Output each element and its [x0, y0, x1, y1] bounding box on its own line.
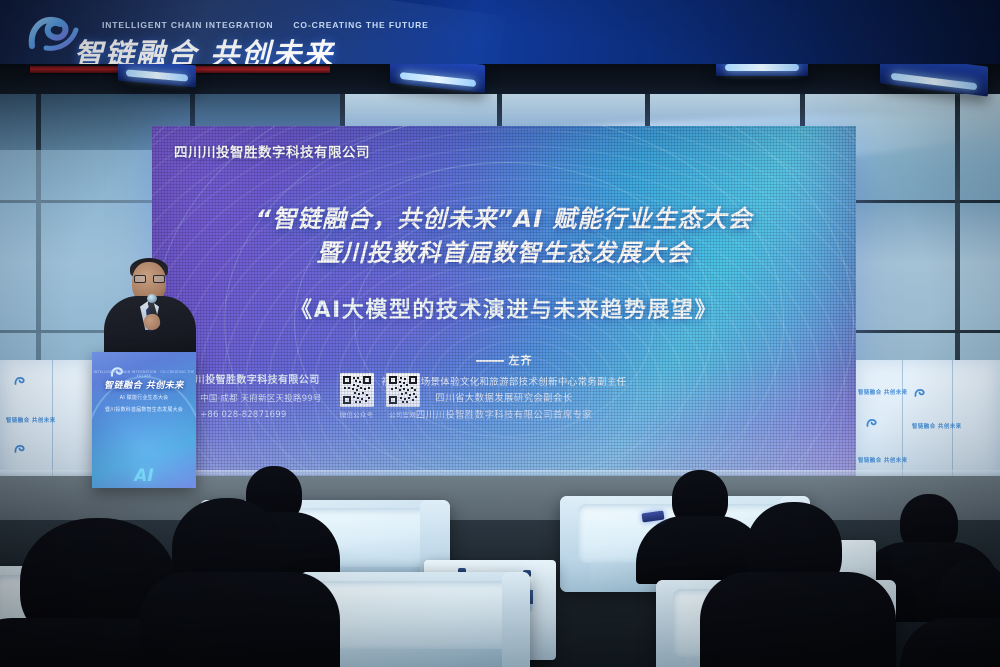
audience-shoulders-foreground — [140, 572, 340, 667]
podium-subtitle-2: 暨川投数科首届数智生态发展大会 — [96, 406, 192, 415]
screen-lower-glow — [152, 366, 856, 476]
podium-ai-accent: AI — [92, 466, 196, 486]
screen-topic-title: 《AI大模型的技术演进与未来趋势展望》 — [152, 292, 856, 324]
event-header-banner: INTELLIGENT CHAIN INTEGRATIONCO-CREATING… — [0, 0, 1000, 64]
banner-english-tagline: INTELLIGENT CHAIN INTEGRATIONCO-CREATING… — [102, 4, 429, 30]
screen-title-line1: “智链融合，共创未来”AI 赋能行业生态大会 — [152, 202, 856, 236]
podium-subtitle-1: AI 赋能行业生态大会 — [96, 394, 192, 403]
microphone-head-icon — [147, 294, 157, 303]
panel-watermark: 智链融合 共创未来 — [858, 456, 908, 464]
conference-photo-scene: INTELLIGENT CHAIN INTEGRATIONCO-CREATING… — [0, 0, 1000, 667]
panel-watermark: 智链融合 共创未来 — [912, 422, 962, 430]
chain-swirl-logo-icon — [14, 444, 27, 454]
audience-shoulders-foreground — [700, 572, 896, 667]
banner-text-rows: INTELLIGENT CHAIN INTEGRATIONCO-CREATING… — [28, 4, 429, 64]
screen-title-line2: 暨川投数科首届数智生态发展大会 — [152, 236, 856, 270]
glasses-icon — [134, 275, 165, 283]
panel-watermark: 智链融合 共创未来 — [858, 388, 908, 396]
name-dash-rule — [476, 360, 504, 362]
screen-title-block: “智链融合，共创未来”AI 赋能行业生态大会 暨川投数科首届数智生态发展大会 《… — [152, 202, 856, 324]
chain-swirl-logo-icon — [866, 418, 879, 428]
wall-panel-right: 智链融合 共创未来 智链融合 共创未来 智链融合 共创未来 — [856, 360, 1000, 485]
chain-swirl-logo-icon — [14, 376, 27, 386]
podium-english-tagline: INTELLIGENT CHAIN INTEGRATION · CO-CREAT… — [92, 370, 196, 378]
panel-watermark: 智链融合 共创未来 — [6, 416, 56, 424]
chain-swirl-logo-icon — [914, 388, 927, 398]
main-led-screen: 四川川投智胜数字科技有限公司 “智链融合，共创未来”AI 赋能行业生态大会 暨川… — [152, 126, 856, 476]
podium-title: 智链融合 共创未来 — [92, 378, 196, 391]
banner-chinese-title: 智链融合 共创未来 — [74, 31, 429, 64]
screen-company-name: 四川川投智胜数字科技有限公司 — [174, 141, 370, 161]
podium-banner: INTELLIGENT CHAIN INTEGRATION · CO-CREAT… — [92, 352, 196, 488]
